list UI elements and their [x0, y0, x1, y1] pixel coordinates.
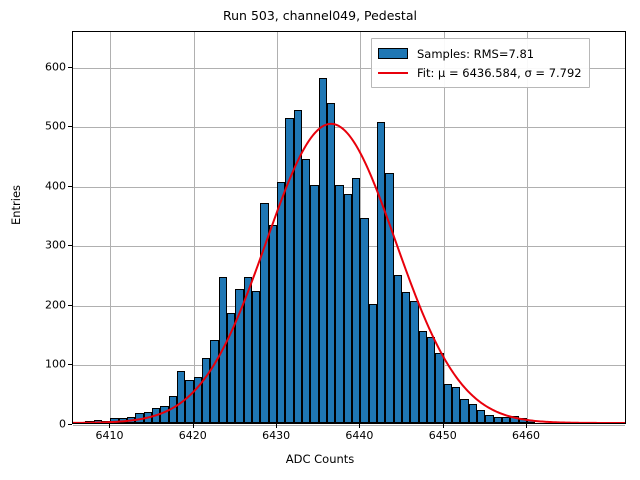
- x-axis-label: ADC Counts: [0, 452, 640, 466]
- y-axis-tick-label: 500: [45, 120, 66, 133]
- x-axis-tick-label: 6450: [429, 429, 457, 442]
- plot-area: [72, 31, 626, 424]
- legend-patch-icon: [378, 48, 408, 59]
- y-axis-label: Entries: [9, 145, 23, 265]
- legend-label-fit: Fit: μ = 6436.584, σ = 7.792: [417, 66, 582, 80]
- x-axis-tick-label: 6440: [345, 429, 373, 442]
- x-axis-tick-label: 6430: [262, 429, 290, 442]
- page-title: Run 503, channel049, Pedestal: [0, 8, 640, 23]
- legend-item-samples: Samples: RMS=7.81: [378, 44, 582, 63]
- x-axis-tick-label: 6460: [512, 429, 540, 442]
- y-axis-tick-label: 400: [45, 179, 66, 192]
- legend-label-samples: Samples: RMS=7.81: [417, 47, 534, 61]
- y-axis-tick-label: 300: [45, 239, 66, 252]
- y-axis-tick-label: 200: [45, 298, 66, 311]
- x-axis-tick-labels: 641064206430644064506460: [0, 425, 640, 445]
- x-axis-tick-label: 6410: [95, 429, 123, 442]
- chart-legend: Samples: RMS=7.81 Fit: μ = 6436.584, σ =…: [371, 38, 590, 88]
- gaussian-fit-curve: [73, 32, 625, 423]
- chart-figure: Run 503, channel049, Pedestal Entries 01…: [0, 0, 640, 480]
- x-axis-tick-label: 6420: [179, 429, 207, 442]
- legend-line-icon: [378, 67, 408, 78]
- legend-item-fit: Fit: μ = 6436.584, σ = 7.792: [378, 63, 582, 82]
- y-axis-tick-label: 100: [45, 358, 66, 371]
- y-axis-tick-label: 600: [45, 60, 66, 73]
- y-axis-tick-labels: 0100200300400500600: [28, 31, 66, 424]
